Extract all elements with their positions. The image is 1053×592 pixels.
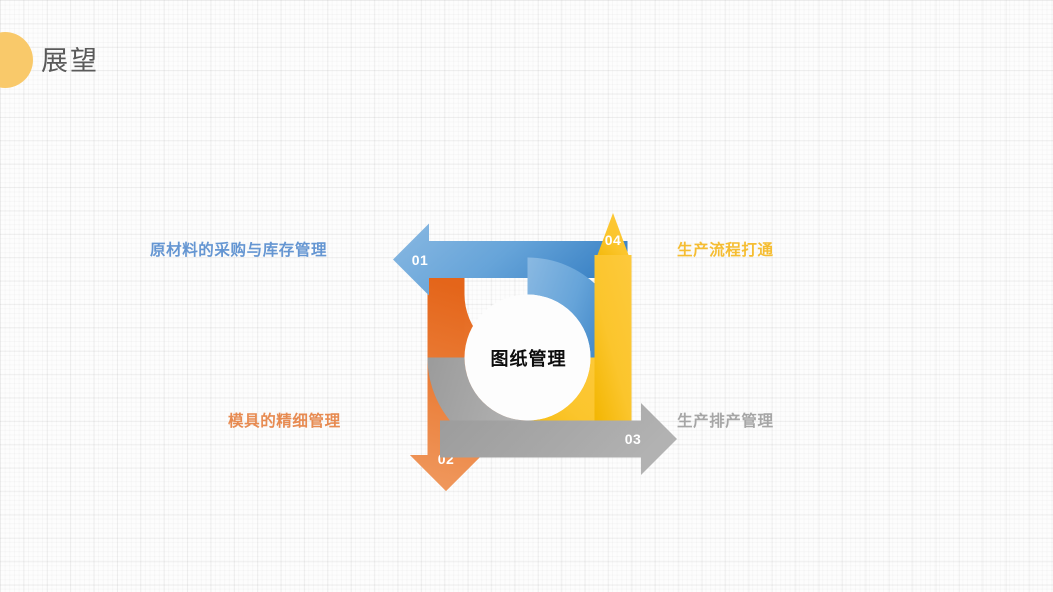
slide-canvas: 展望 — [0, 0, 1053, 592]
step-01-number: 01 — [412, 252, 429, 268]
step-01-label: 原材料的采购与库存管理 — [150, 238, 327, 260]
step-02-label: 模具的精细管理 — [228, 409, 341, 431]
step-03-number: 03 — [625, 431, 642, 447]
step-04-tail — [595, 255, 632, 425]
step-03-label: 生产排产管理 — [677, 409, 774, 431]
inner-disc — [465, 295, 591, 421]
step-04-label: 生产流程打通 — [677, 238, 774, 260]
circular-process-diagram: 02 01 04 03 — [0, 0, 1053, 592]
step-04-number: 04 — [605, 232, 622, 248]
